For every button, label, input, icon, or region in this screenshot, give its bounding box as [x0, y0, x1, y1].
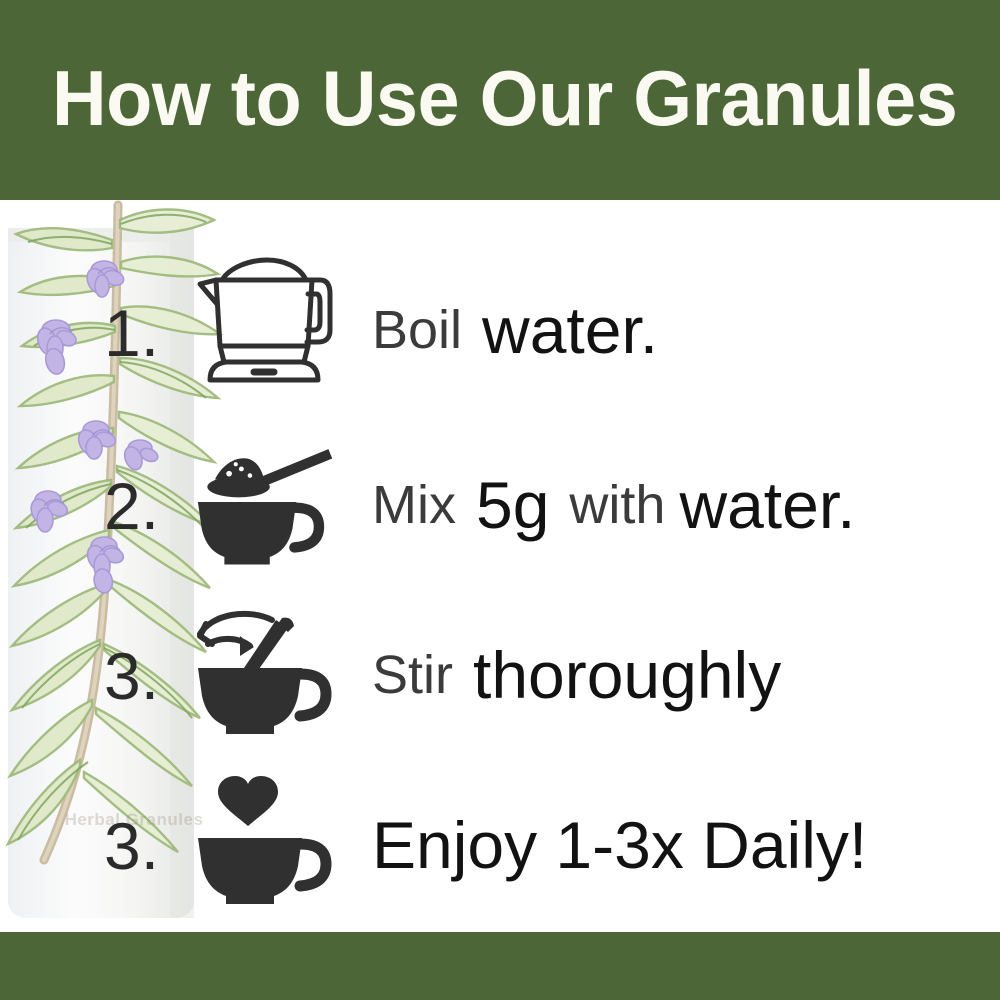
step-item-1: 1. [0, 250, 1000, 410]
step-item-4: 3. [0, 765, 1000, 925]
header-bar: How to Use Our Granules [0, 0, 1000, 200]
step-text-4: Enjoy 1-3x Daily! [372, 765, 867, 925]
step-item-2: 2. [0, 425, 1000, 585]
electric-kettle-icon [196, 250, 336, 390]
cup-with-heart-icon [196, 770, 336, 910]
step-3-word-2: thoroughly [473, 640, 781, 710]
instructions-body: Herbal Granules 1. [0, 200, 1000, 932]
step-2-word-1: Mix [372, 476, 456, 534]
infographic-card: Herbal Granules 1. [0, 0, 1000, 1000]
step-4-phrase: Enjoy 1-3x Daily! [372, 810, 867, 880]
step-number-1: 1. [104, 300, 196, 366]
step-number-2: 2. [104, 473, 196, 539]
step-1-word-2: water. [482, 295, 658, 365]
footer-bar [0, 932, 1000, 1000]
page-title: How to Use Our Granules [52, 54, 925, 142]
step-number-4: 3. [104, 813, 196, 879]
cup-with-stirring-spoon-icon [196, 600, 336, 740]
step-text-2: Mix 5g with water. [372, 425, 856, 585]
step-2-dose: 5g [476, 470, 549, 540]
step-2-word-3: with [569, 476, 665, 534]
step-1-word-1: Boil [372, 301, 462, 359]
step-number-3: 3. [104, 643, 196, 709]
cup-with-measuring-spoon-icon [196, 433, 336, 573]
step-text-3: Stir thoroughly [372, 595, 781, 755]
step-text-1: Boil water. [372, 250, 658, 410]
step-2-word-4: water. [679, 470, 855, 540]
step-item-3: 3. [0, 595, 1000, 755]
step-3-word-1: Stir [372, 646, 453, 704]
